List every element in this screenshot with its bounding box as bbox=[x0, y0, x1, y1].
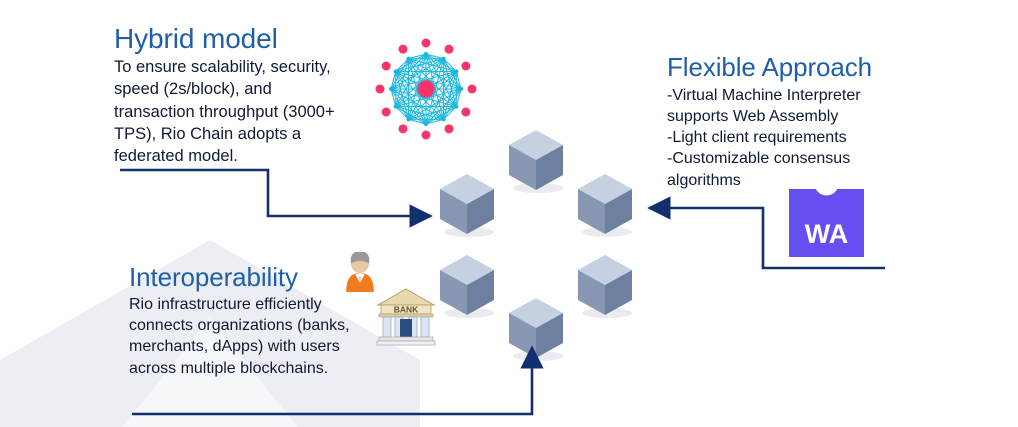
blockchain-cube bbox=[505, 296, 567, 362]
blockchain-cube bbox=[436, 172, 498, 238]
hybrid-model-line: To ensure scalability, security, bbox=[114, 56, 335, 78]
interoperability-heading: Interoperability bbox=[129, 264, 350, 292]
network-mesh-icon bbox=[370, 33, 482, 145]
bank-icon-label: BANK bbox=[394, 305, 419, 315]
hybrid-model-body: To ensure scalability, security, speed (… bbox=[114, 56, 335, 168]
hybrid-to-cubes-connector bbox=[120, 170, 412, 216]
hybrid-model-line: speed (2s/block), and bbox=[114, 78, 335, 100]
flexible-approach-line: supports Web Assembly bbox=[667, 106, 872, 127]
flexible-approach-section: Flexible Approach -Virtual Machine Inter… bbox=[667, 54, 872, 191]
webassembly-logo: WA bbox=[789, 189, 864, 257]
flexible-approach-line: algorithms bbox=[667, 170, 872, 191]
blockchain-cube bbox=[436, 253, 498, 319]
flexible-approach-body: -Virtual Machine Interpreter supports We… bbox=[667, 85, 872, 191]
interoperability-line: across multiple blockchains. bbox=[129, 358, 350, 379]
blockchain-cube bbox=[574, 172, 636, 238]
interoperability-body: Rio infrastructure efficiently connects … bbox=[129, 294, 350, 380]
bank-building-icon: BANK bbox=[375, 285, 437, 347]
hybrid-model-line: TPS), Rio Chain adopts a bbox=[114, 123, 335, 145]
blockchain-cube bbox=[574, 253, 636, 319]
hybrid-model-heading: Hybrid model bbox=[114, 24, 335, 54]
blockchain-cube bbox=[505, 128, 567, 194]
wasm-logo-label: WA bbox=[805, 219, 849, 249]
interoperability-line: merchants, dApps) with users bbox=[129, 336, 350, 357]
flexible-approach-line: -Light client requirements bbox=[667, 127, 872, 148]
flexible-approach-heading: Flexible Approach bbox=[667, 54, 872, 82]
flexible-approach-line: -Virtual Machine Interpreter bbox=[667, 85, 872, 106]
hybrid-model-line: federated model. bbox=[114, 145, 335, 167]
flexible-approach-line: -Customizable consensus bbox=[667, 148, 872, 169]
infographic-canvas: WA BANK Hybrid model To ensure scalabili… bbox=[0, 0, 1018, 427]
interoperability-section: Interoperability Rio infrastructure effi… bbox=[129, 264, 350, 379]
hybrid-model-line: transaction throughput (3000+ bbox=[114, 101, 335, 123]
interoperability-line: Rio infrastructure efficiently bbox=[129, 294, 350, 315]
hybrid-model-section: Hybrid model To ensure scalability, secu… bbox=[114, 24, 335, 168]
interoperability-line: connects organizations (banks, bbox=[129, 315, 350, 336]
